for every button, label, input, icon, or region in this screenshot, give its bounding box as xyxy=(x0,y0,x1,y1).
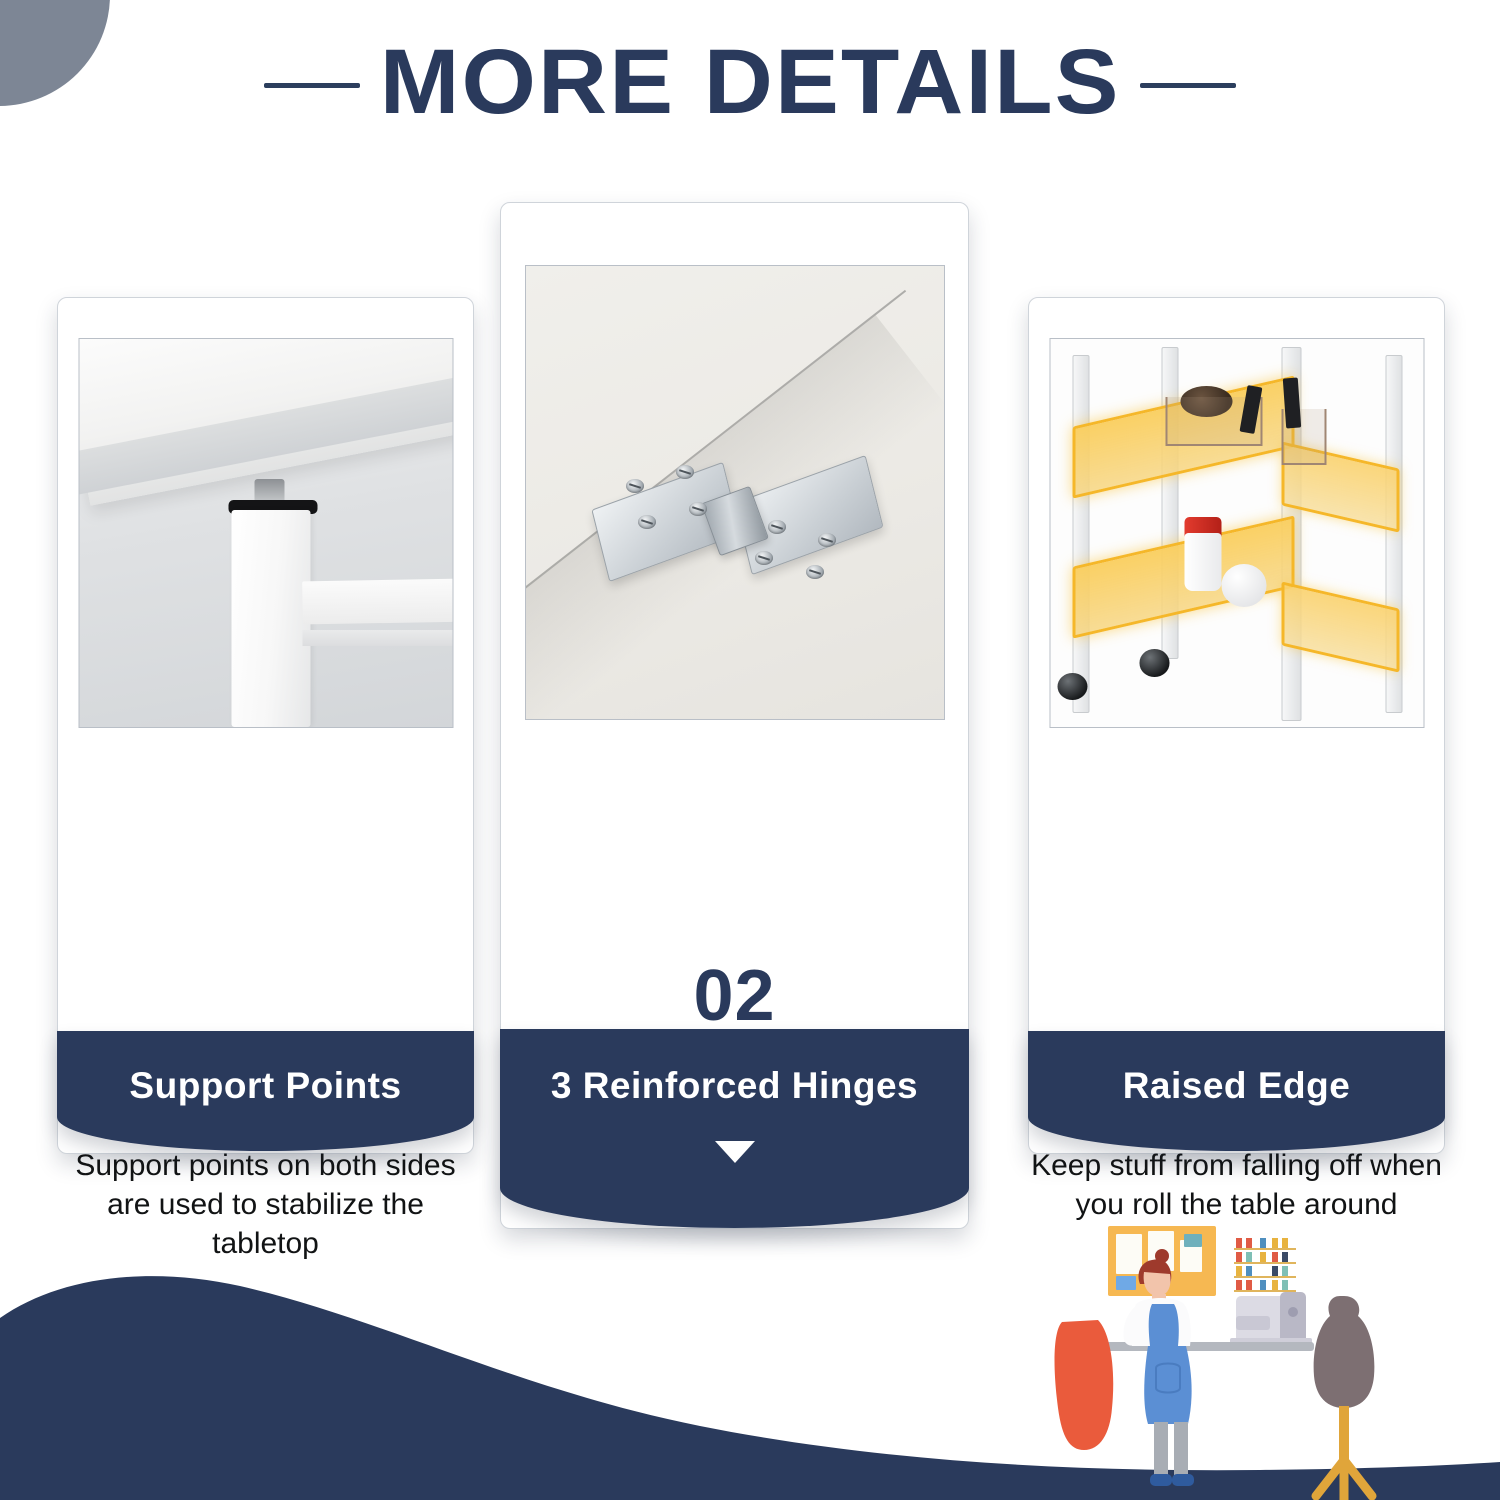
header-rule-left xyxy=(264,83,360,88)
chevron-down-icon[interactable] xyxy=(715,1141,755,1163)
feature-card-3[interactable]: 03 Keep stuff from falling off when you … xyxy=(1028,297,1445,1154)
sewing-workshop-illustration xyxy=(1040,1212,1470,1500)
red-fabric-icon xyxy=(1055,1320,1114,1450)
page-title: MORE DETAILS xyxy=(380,36,1121,128)
feature-number-2: 02 xyxy=(501,960,968,1032)
header-rule-right xyxy=(1140,83,1236,88)
feature-banner-2: 3 Reinforced Hinges xyxy=(500,1029,969,1228)
feature-banner-label-1: Support Points xyxy=(129,1065,401,1107)
feature-image-1 xyxy=(78,338,453,728)
feature-card-1[interactable]: 01 Support points on both sides are used… xyxy=(57,297,474,1154)
feature-image-2 xyxy=(525,265,945,720)
feature-card-2[interactable]: 02 Offer efficient operation and long-la… xyxy=(500,202,969,1229)
page-header: MORE DETAILS xyxy=(0,36,1500,128)
dress-form-mannequin-icon xyxy=(1314,1296,1375,1500)
feature-image-3 xyxy=(1049,338,1424,728)
feature-banner-3: Raised Edge xyxy=(1028,1031,1445,1151)
sewing-machine-icon xyxy=(1230,1292,1312,1348)
feature-banner-label-3: Raised Edge xyxy=(1123,1065,1351,1107)
feature-banner-label-2: 3 Reinforced Hinges xyxy=(551,1065,918,1107)
thread-spool-rack-icon xyxy=(1234,1238,1296,1292)
feature-banner-1: Support Points xyxy=(57,1031,474,1151)
